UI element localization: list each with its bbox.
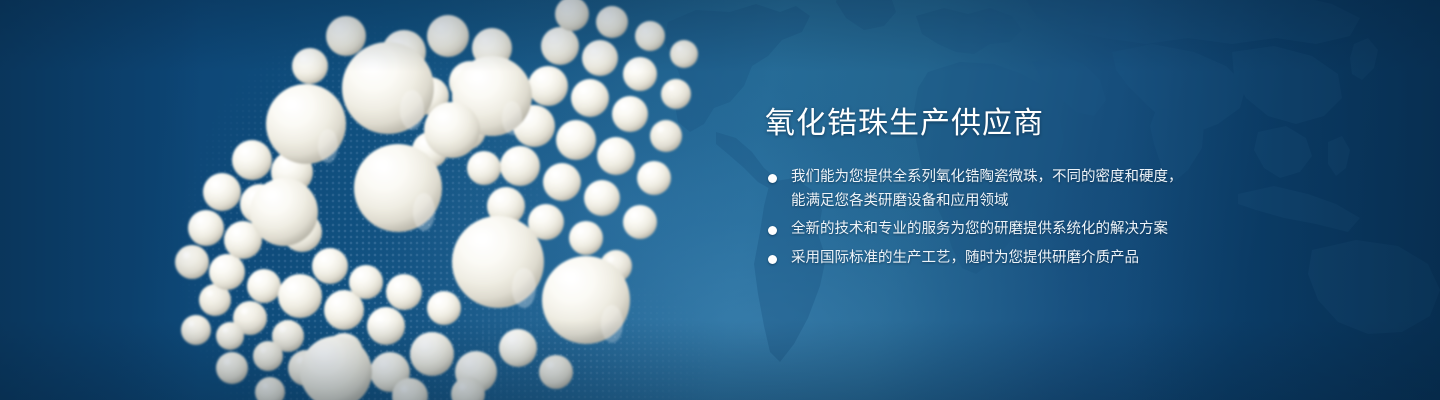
list-item-line: 能满足您各类研磨设备和应用领域: [791, 190, 1225, 214]
list-item: 全新的技术和专业的服务为您的研磨提供系统化的解决方案: [765, 218, 1225, 242]
list-item: 我们能为您提供全系列氧化锆陶瓷微珠，不同的密度和硬度， 能满足您各类研磨设备和应…: [765, 166, 1225, 213]
list-item-line: 采用国际标准的生产工艺，随时为您提供研磨介质产品: [791, 247, 1225, 271]
bullet-dot-icon: [768, 174, 777, 183]
bullet-dot-icon: [768, 226, 777, 235]
list-item-line: 全新的技术和专业的服务为您的研磨提供系统化的解决方案: [791, 218, 1225, 242]
page-title: 氧化锆珠生产供应商: [765, 104, 1225, 144]
bullet-dot-icon: [768, 255, 777, 264]
feature-list: 我们能为您提供全系列氧化锆陶瓷微珠，不同的密度和硬度， 能满足您各类研磨设备和应…: [765, 166, 1225, 270]
banner-copy: 氧化锆珠生产供应商 我们能为您提供全系列氧化锆陶瓷微珠，不同的密度和硬度， 能满…: [765, 104, 1225, 275]
hero-banner: 氧化锆珠生产供应商 我们能为您提供全系列氧化锆陶瓷微珠，不同的密度和硬度， 能满…: [0, 0, 1440, 400]
list-item-line: 我们能为您提供全系列氧化锆陶瓷微珠，不同的密度和硬度，: [791, 166, 1225, 190]
list-item: 采用国际标准的生产工艺，随时为您提供研磨介质产品: [765, 247, 1225, 271]
